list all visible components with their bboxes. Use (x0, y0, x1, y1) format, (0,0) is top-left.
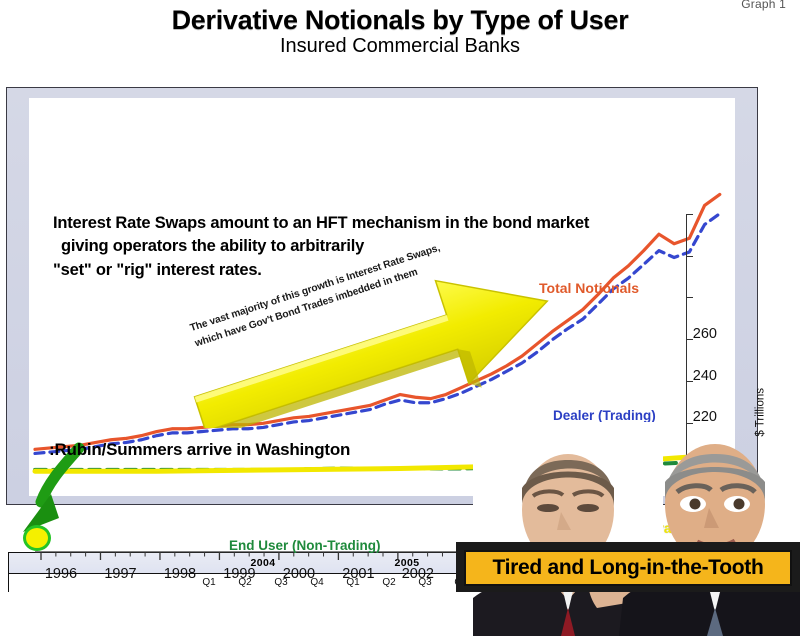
x-tick-label: 1999 (223, 566, 255, 582)
yellow-arrow-graphic (157, 263, 577, 428)
x-tick-label: 2001 (342, 566, 374, 582)
title-block: Derivative Notionals by Type of User Ins… (0, 6, 800, 58)
series-label-end-user: End User (Non-Trading) (229, 538, 381, 553)
chart-panel: Interest Rate Swaps amount to an HFT mec… (6, 87, 758, 505)
y-tick (687, 214, 693, 215)
series-label-total-notionals: Total Notionals (539, 280, 639, 296)
y-tick-label: 240 (693, 368, 717, 384)
rubin-summers-annotation: :Rubin/Summers arrive in Washington (49, 440, 350, 460)
origin-highlight-marker (23, 525, 51, 551)
x-tick-label: 2000 (283, 566, 315, 582)
x-tick-label: 1997 (104, 566, 136, 582)
page-title: Derivative Notionals by Type of User (0, 6, 800, 34)
x-tick-label: 2002 (402, 566, 434, 582)
photo-overlay-group (473, 422, 800, 636)
y-tick-label: 260 (693, 326, 717, 342)
series-label-dealer: Dealer (Trading) (553, 408, 656, 423)
x-tick-label: 1998 (164, 566, 196, 582)
y-tick (687, 256, 693, 257)
y-tick (687, 297, 693, 298)
bottom-caption: Tired and Long-in-the-Tooth (464, 550, 792, 586)
page-subtitle: Insured Commercial Banks (0, 35, 800, 58)
x-tick-label: 1996 (45, 566, 77, 582)
photo-person-right (619, 422, 800, 636)
